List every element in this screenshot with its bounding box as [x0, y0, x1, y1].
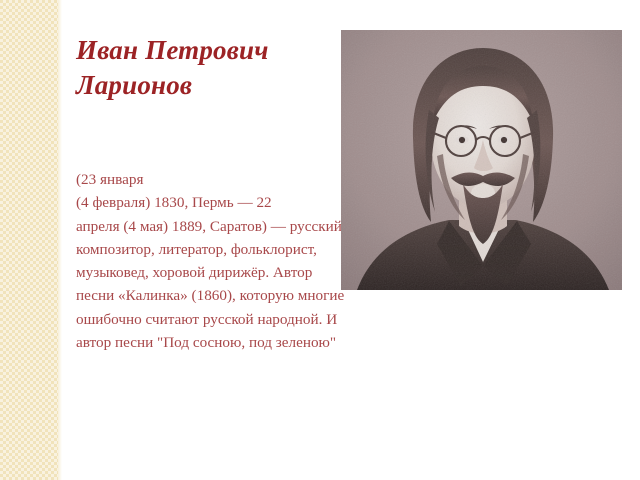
portrait-image [341, 30, 622, 290]
slide: Иван Петрович Ларионов (23 января (4 фев… [0, 0, 640, 480]
portrait-illustration [341, 30, 622, 290]
text-column: Иван Петрович Ларионов (23 января (4 фев… [76, 0, 344, 480]
decorative-band-edge [58, 0, 62, 480]
page-title: Иван Петрович Ларионов [76, 33, 348, 103]
decorative-left-band [0, 0, 58, 480]
biography-text: (23 января (4 февраля) 1830, Пермь — 22 … [76, 168, 348, 354]
